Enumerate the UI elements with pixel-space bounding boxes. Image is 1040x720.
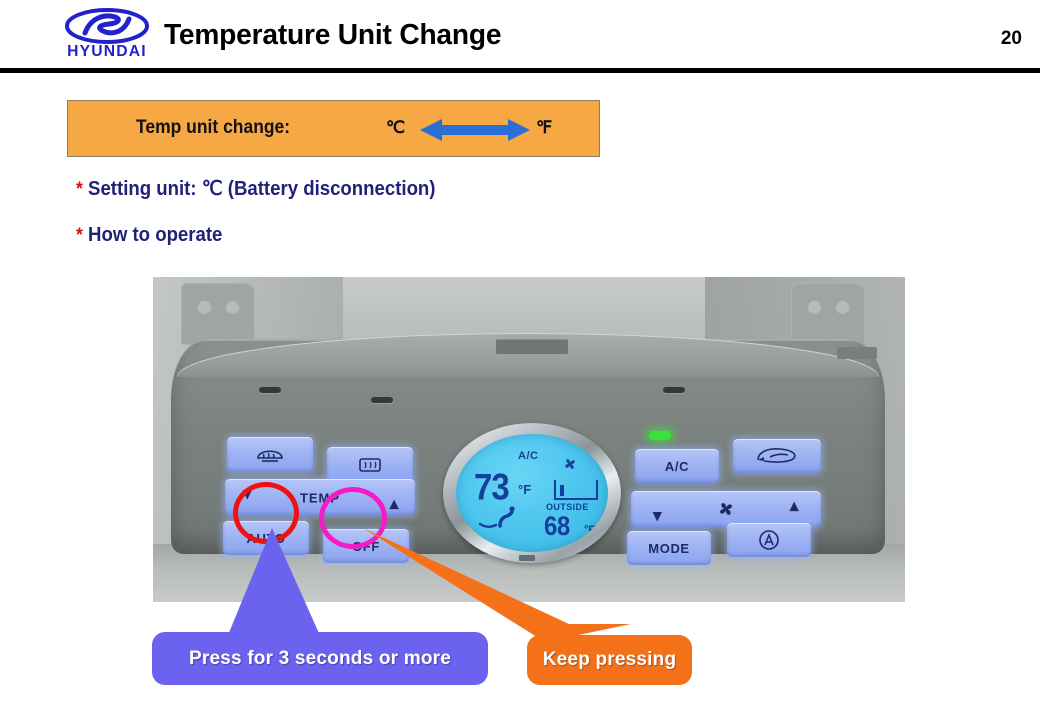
banner-label: Temp unit change:	[136, 117, 290, 139]
bullet-marker: *	[76, 225, 83, 246]
lcd-set-temperature: 73	[474, 466, 509, 509]
faceplate-slot	[259, 387, 281, 393]
hyundai-logo: HYUNDAI	[57, 8, 157, 64]
chevron-down-icon[interactable]: ▾	[653, 507, 662, 524]
lcd-set-temperature-unit: °F	[518, 482, 531, 497]
mounting-bracket-left	[181, 283, 255, 345]
press-3-seconds-callout: Press for 3 seconds or more	[152, 632, 488, 685]
double-headed-arrow-icon	[420, 118, 530, 142]
bracket-hole	[225, 299, 240, 314]
keep-pressing-callout: Keep pressing	[527, 635, 692, 685]
fan-blade-icon	[562, 456, 578, 472]
circled-a-icon	[758, 529, 780, 551]
banner-unit-fahrenheit: ℉	[536, 118, 552, 138]
rear-window-defrost-icon	[357, 455, 383, 475]
faceplate-center-tab	[496, 339, 568, 354]
front-windshield-defrost-icon	[255, 445, 285, 465]
bracket-hole	[197, 299, 212, 314]
note-text: How to operate	[88, 224, 222, 246]
lcd-ac-indicator: A/C	[518, 450, 538, 462]
note-line-how-to-operate: * How to operate	[76, 224, 222, 247]
note-line-setting-unit: * Setting unit: ℃ (Battery disconnection…	[76, 176, 435, 201]
fan-speed-rocker-button[interactable]: ▾ ▴	[631, 491, 821, 527]
auto-recirculation-button[interactable]	[727, 523, 811, 557]
header-divider-rule	[0, 68, 1040, 73]
faceplate-right-clip	[837, 347, 877, 359]
keep-pressing-connector	[355, 520, 635, 645]
page-number: 20	[1001, 28, 1022, 50]
fan-speed-bar-gauge	[554, 480, 598, 500]
slide-header: HYUNDAI Temperature Unit Change 20	[0, 0, 1040, 72]
mounting-bracket-right	[791, 283, 865, 345]
air-recirculation-button[interactable]	[733, 439, 821, 473]
bracket-hole	[835, 299, 850, 314]
page-title: Temperature Unit Change	[164, 19, 501, 52]
faceplate-slot	[371, 397, 393, 403]
chevron-up-icon[interactable]: ▴	[790, 497, 799, 514]
fan-speed-segment	[560, 485, 564, 496]
rear-defrost-button[interactable]	[327, 447, 413, 482]
ac-button[interactable]: A/C	[635, 449, 719, 483]
hyundai-wordmark: HYUNDAI	[58, 43, 156, 61]
chevron-up-icon[interactable]: ▴	[390, 495, 399, 512]
hyundai-oval-h-logo-icon	[65, 8, 149, 44]
banner-unit-celsius: ℃	[386, 118, 405, 138]
mode-button[interactable]: MODE	[627, 531, 711, 565]
air-recirculation-icon	[754, 446, 800, 466]
note-text: Setting unit: ℃ (Battery disconnection)	[88, 178, 435, 200]
bracket-hole	[807, 299, 822, 314]
lcd-outside-label: OUTSIDE	[546, 502, 589, 512]
fan-blade-icon	[716, 499, 736, 519]
press-3-seconds-connector	[210, 528, 340, 640]
bullet-marker: *	[76, 179, 83, 200]
green-indicator-led	[649, 431, 671, 440]
front-defrost-button[interactable]	[227, 437, 313, 472]
faceplate-slot	[663, 387, 685, 393]
temp-unit-change-banner: Temp unit change: ℃ ℉	[67, 100, 600, 157]
